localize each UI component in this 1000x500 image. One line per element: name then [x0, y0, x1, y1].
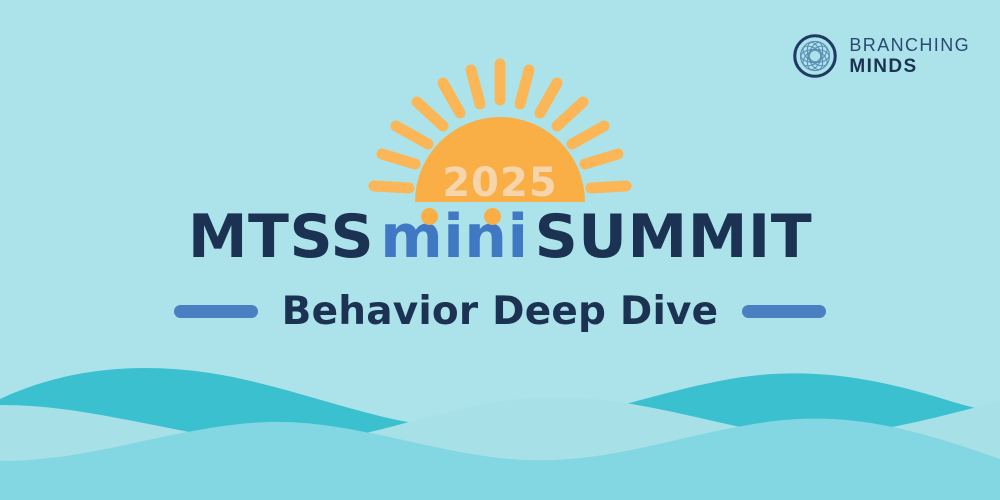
- title-mini-wrap: mini: [380, 207, 528, 267]
- title-mini: mini: [380, 202, 528, 272]
- title-prefix: MTSS: [188, 202, 374, 272]
- event-promo-banner: BRANCHING MINDS: [0, 0, 1000, 500]
- subtitle-row: Behavior Deep Dive: [0, 292, 1000, 331]
- wave-decoration: [0, 355, 1000, 500]
- rule-left: [174, 305, 258, 318]
- title-suffix: SUMMIT: [535, 202, 813, 272]
- sun-year-label: 2025: [442, 160, 557, 206]
- half-sun-icon: 2025: [345, 34, 655, 209]
- rule-right: [742, 305, 826, 318]
- sun-graphic: 2025: [0, 34, 1000, 209]
- subtitle: Behavior Deep Dive: [282, 292, 719, 331]
- page-title: MTSSminiSUMMIT: [0, 207, 1000, 267]
